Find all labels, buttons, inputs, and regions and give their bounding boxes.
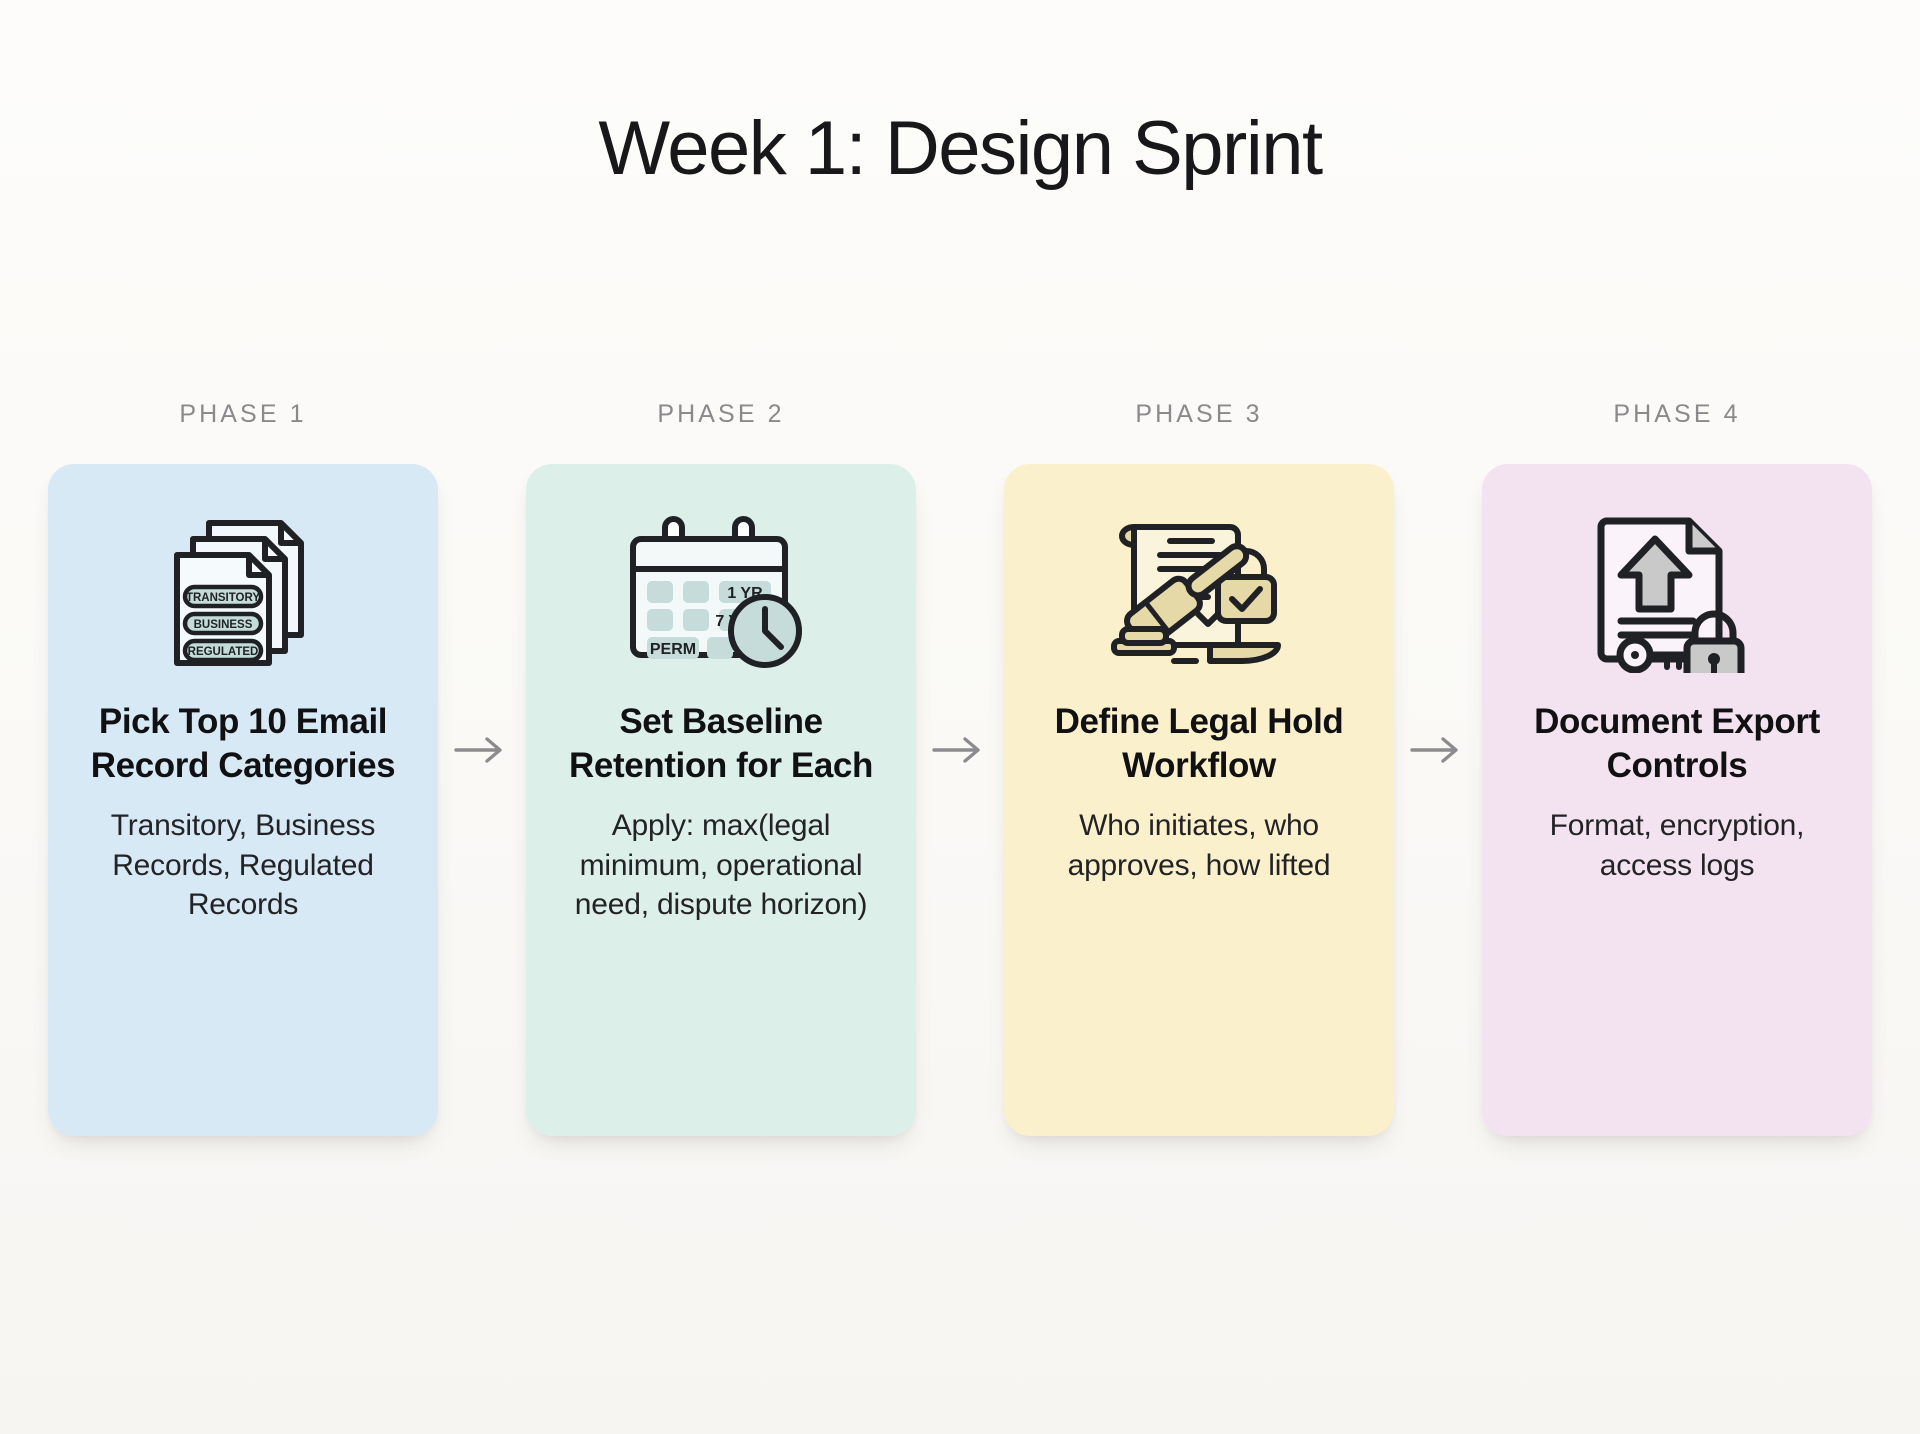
gavel-scroll-lock-icon: [1104, 508, 1294, 678]
phase-card-title-2: Set Baseline Retention for Each: [556, 700, 886, 788]
phase-card-1[interactable]: TRANSITORY BUSINESS REGULATED Pick Top 1…: [48, 464, 438, 1136]
phase-label-1: PHASE 1: [179, 400, 306, 429]
icon-label-business: BUSINESS: [194, 619, 253, 631]
flow-arrow-2: [916, 400, 1004, 1100]
phase-card-description-3: Who initiates, who approves, how lifted: [1034, 806, 1364, 885]
flow-arrow-1: [438, 400, 526, 1100]
phase-card-title-4: Document Export Controls: [1512, 700, 1842, 788]
flow-arrow-3: [1394, 400, 1482, 1100]
phase-card-title-3: Define Legal Hold Workflow: [1034, 700, 1364, 788]
phase-card-2[interactable]: 1 YR 7 YR PERM Set Baseline Retention fo…: [526, 464, 916, 1136]
icon-label-regulated: REGULATED: [188, 646, 259, 658]
phase-card-description-1: Transitory, Business Records, Regulated …: [78, 806, 408, 925]
calendar-clock-icon: 1 YR 7 YR PERM: [627, 508, 815, 678]
document-export-lock-key-icon: [1591, 508, 1763, 678]
phase-card-description-2: Apply: max(legal minimum, operational ne…: [556, 806, 886, 925]
phase-card-4[interactable]: Document Export Controls Format, encrypt…: [1482, 464, 1872, 1136]
phase-column-4: PHASE 4: [1482, 400, 1872, 1136]
document-stack-icon: TRANSITORY BUSINESS REGULATED: [157, 508, 329, 678]
phase-card-3[interactable]: Define Legal Hold Workflow Who initiates…: [1004, 464, 1394, 1136]
phase-label-3: PHASE 3: [1135, 400, 1262, 429]
slide-canvas: Week 1: Design Sprint PHASE 1: [0, 0, 1920, 1434]
phase-column-2: PHASE 2: [526, 400, 916, 1136]
phase-flow: PHASE 1: [0, 400, 1920, 1136]
phase-column-1: PHASE 1: [48, 400, 438, 1136]
phase-column-3: PHASE 3: [1004, 400, 1394, 1136]
phase-card-title-1: Pick Top 10 Email Record Categories: [78, 700, 408, 788]
phase-card-description-4: Format, encryption, access logs: [1512, 806, 1842, 885]
icon-label-perm: PERM: [650, 641, 696, 658]
phase-label-2: PHASE 2: [657, 400, 784, 429]
icon-label-transitory: TRANSITORY: [186, 592, 260, 604]
phase-label-4: PHASE 4: [1613, 400, 1740, 429]
page-title: Week 1: Design Sprint: [0, 108, 1920, 190]
